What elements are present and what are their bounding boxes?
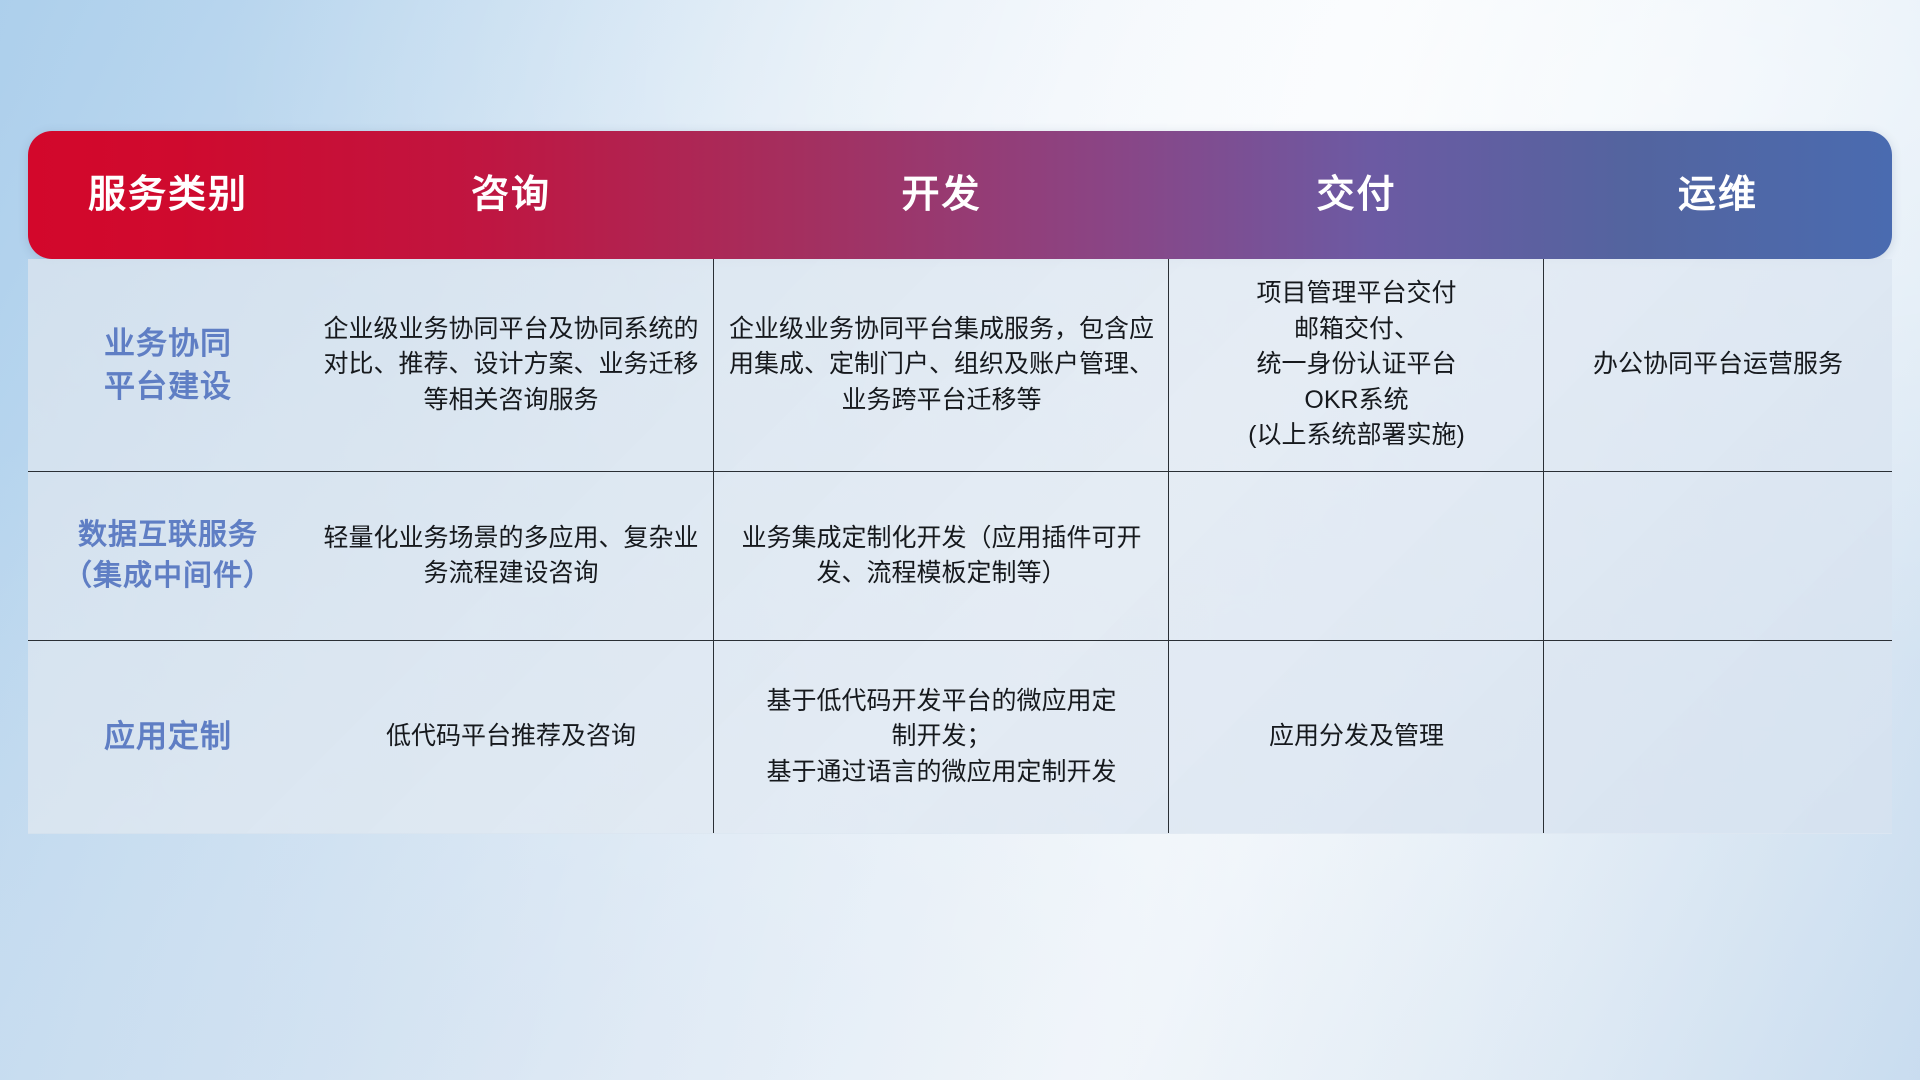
delivery-line: (以上系统部署实施) <box>1248 418 1465 454</box>
row-label-line: 平台建设 <box>104 365 232 408</box>
column-header-category: 服务类别 <box>28 131 308 259</box>
cell-development-row1: 企业级业务协同平台集成服务，包含应用集成、定制门户、组织及账户管理、业务跨平台迁… <box>714 259 1169 471</box>
column-header-delivery: 交付 <box>1169 131 1544 259</box>
column-header-operations: 运维 <box>1544 131 1892 259</box>
cell-operations-row1: 办公协同平台运营服务 <box>1544 259 1892 471</box>
cell-delivery-row1: 项目管理平台交付 邮箱交付、 统一身份认证平台 OKR系统 (以上系统部署实施) <box>1169 259 1544 471</box>
row-label-business-collaboration: 业务协同 平台建设 <box>28 259 308 471</box>
cell-delivery-row2 <box>1169 472 1544 640</box>
service-category-table: 服务类别 咨询 开发 交付 运维 业务协同 平台建设 企业级业务协同平台及协同系… <box>28 131 1892 834</box>
delivery-line: 统一身份认证平台 <box>1248 347 1465 383</box>
delivery-line: 项目管理平台交付 <box>1248 276 1465 312</box>
cell-delivery-row3: 应用分发及管理 <box>1169 641 1544 833</box>
row-label-line: 应用定制 <box>104 715 232 758</box>
delivery-line: OKR系统 <box>1248 383 1465 419</box>
cell-consulting-row1: 企业级业务协同平台及协同系统的对比、推荐、设计方案、业务迁移等相关咨询服务 <box>308 259 714 471</box>
row-label-line: 数据互联服务 <box>63 515 273 556</box>
cell-development-row2: 业务集成定制化开发（应用插件可开发、流程模板定制等） <box>714 472 1169 640</box>
cell-operations-row3 <box>1544 641 1892 833</box>
table-header-row: 服务类别 咨询 开发 交付 运维 <box>28 131 1892 259</box>
cell-development-row3: 基于低代码开发平台的微应用定 制开发； 基于通过语言的微应用定制开发 <box>714 641 1169 833</box>
development-line: 制开发； <box>766 719 1116 755</box>
cell-operations-row2 <box>1544 472 1892 640</box>
row-label-data-interconnect: 数据互联服务 （集成中间件） <box>28 472 308 640</box>
table-row: 应用定制 低代码平台推荐及咨询 基于低代码开发平台的微应用定 制开发； 基于通过… <box>28 641 1892 833</box>
table-row: 业务协同 平台建设 企业级业务协同平台及协同系统的对比、推荐、设计方案、业务迁移… <box>28 259 1892 472</box>
delivery-line: 邮箱交付、 <box>1248 312 1465 348</box>
development-line: 基于通过语言的微应用定制开发 <box>766 755 1116 791</box>
row-label-line: 业务协同 <box>104 322 232 365</box>
column-header-development: 开发 <box>714 131 1169 259</box>
row-label-app-customization: 应用定制 <box>28 641 308 833</box>
cell-consulting-row3: 低代码平台推荐及咨询 <box>308 641 714 833</box>
row-label-line: （集成中间件） <box>63 556 273 597</box>
cell-consulting-row2: 轻量化业务场景的多应用、复杂业务流程建设咨询 <box>308 472 714 640</box>
column-header-consulting: 咨询 <box>308 131 714 259</box>
development-line: 基于低代码开发平台的微应用定 <box>766 684 1116 720</box>
delivery-line: 应用分发及管理 <box>1269 719 1444 755</box>
table-body: 业务协同 平台建设 企业级业务协同平台及协同系统的对比、推荐、设计方案、业务迁移… <box>28 259 1892 834</box>
table-row: 数据互联服务 （集成中间件） 轻量化业务场景的多应用、复杂业务流程建设咨询 业务… <box>28 472 1892 641</box>
